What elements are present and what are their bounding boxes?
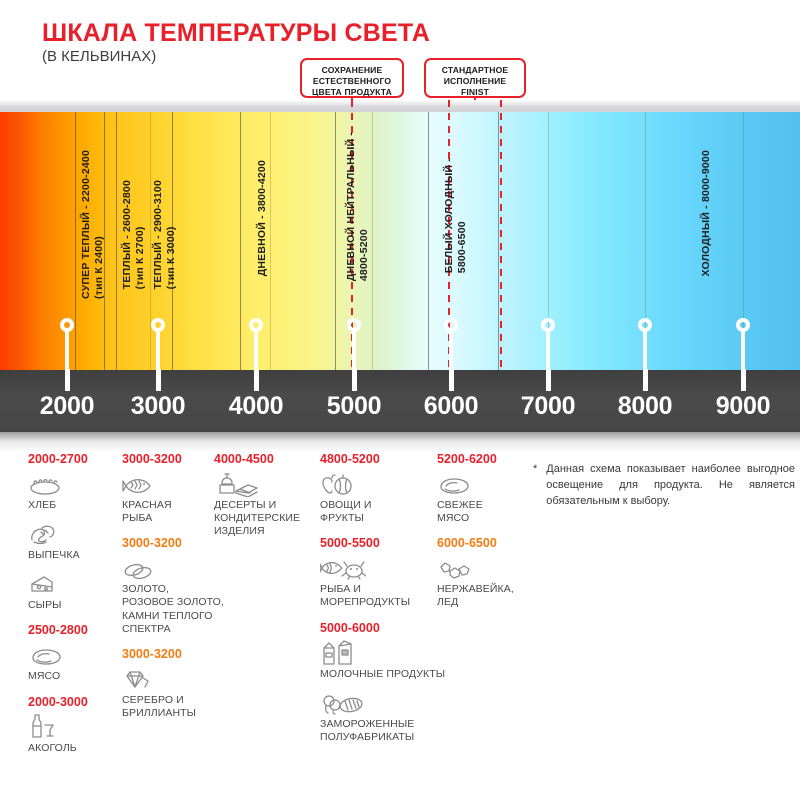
product-item: НЕРЖАВЕЙКА, ЛЕД — [437, 555, 514, 609]
infographic-root: ШКАЛА ТЕМПЕРАТУРЫ СВЕТА (В КЕЛЬВИНАХ) СО… — [0, 0, 800, 800]
scale-tick — [643, 369, 648, 391]
pin-stem — [352, 331, 356, 371]
product-item: ДЕСЕРТЫ И КОНДИТЕРСКИЕ ИЗДЕЛИЯ — [214, 471, 300, 538]
kelvin-range-label: 3000-3200 — [122, 647, 224, 661]
pin-stem — [741, 331, 745, 371]
pin-stem — [156, 331, 160, 371]
product-group: 5200-6200СВЕЖЕЕ МЯСО — [437, 452, 514, 525]
product-group: 5000-5500РЫБА И МОРЕПРОДУКТЫ — [320, 536, 445, 609]
scale-tick — [65, 369, 70, 391]
product-item-label: СВЕЖЕЕ МЯСО — [437, 499, 514, 525]
product-item-label: ЗАМОРОЖЕННЫЕ ПОЛУФАБРИКАТЫ — [320, 718, 445, 744]
scale-tick — [156, 369, 161, 391]
kelvin-range-label: 4800-5200 — [320, 452, 445, 466]
diamond-icon — [122, 666, 224, 692]
product-item-label: РЫБА И МОРЕПРОДУКТЫ — [320, 583, 445, 609]
product-item: СЫРЫ — [28, 571, 88, 612]
scale-tick-value: 6000 — [424, 392, 478, 421]
product-group: 2000-3000АКОГОЛЬ — [28, 695, 88, 755]
bar-divider — [498, 112, 499, 370]
bar-divider — [75, 112, 76, 370]
kelvin-range-label: 2500-2800 — [28, 623, 88, 637]
footnote-star: * — [533, 462, 537, 510]
bar-range-label: БЕЛЫЙ ХОЛОДНЫЙ - 5800-6500 — [443, 158, 469, 273]
product-item: МЯСО — [28, 642, 88, 683]
steak-icon — [28, 642, 88, 668]
kelvin-range-label: 3000-3200 — [122, 536, 224, 550]
product-group: 6000-6500НЕРЖАВЕЙКА, ЛЕД — [437, 536, 514, 609]
fruit-veg-icon — [320, 471, 445, 497]
scale-tick-value: 8000 — [618, 392, 672, 421]
scale-tick-value: 5000 — [327, 392, 381, 421]
bar-divider — [116, 112, 117, 370]
scale-tick — [254, 369, 259, 391]
product-item-label: АКОГОЛЬ — [28, 742, 88, 755]
bar-range-label: ДНЕВНОЙ - 3800-4200 — [256, 160, 269, 276]
product-column: 5200-6200СВЕЖЕЕ МЯСО6000-6500НЕРЖАВЕЙКА,… — [437, 452, 514, 621]
product-item-label: МОЛОЧНЫЕ ПРОДУКТЫ — [320, 668, 445, 681]
product-item-label: ВЫПЕЧКА — [28, 549, 88, 562]
product-item: КРАСНАЯ РЫБА — [122, 471, 224, 525]
fish-crab-icon — [320, 555, 445, 581]
product-group: 2500-2800МЯСО — [28, 623, 88, 683]
product-group: 3000-3200СЕРЕБРО И БРИЛЛИАНТЫ — [122, 647, 224, 720]
scale-tick-value: 7000 — [521, 392, 575, 421]
pin-stem — [449, 331, 453, 371]
pin-ring-icon — [249, 318, 263, 332]
scale-tick-value: 9000 — [716, 392, 770, 421]
kelvin-range-label: 5000-5500 — [320, 536, 445, 550]
croissant-icon — [28, 521, 88, 547]
top-gray-strip — [0, 100, 800, 112]
pin-ring-icon — [60, 318, 74, 332]
product-group: 4000-4500ДЕСЕРТЫ И КОНДИТЕРСКИЕ ИЗДЕЛИЯ — [214, 452, 300, 538]
ice-cubes-icon — [437, 555, 514, 581]
product-group: 3000-3200КРАСНАЯ РЫБА — [122, 452, 224, 525]
product-group: 3000-3200ЗОЛОТО, РОЗОВОЕ ЗОЛОТО, КАМНИ Т… — [122, 536, 224, 636]
product-item: АКОГОЛЬ — [28, 714, 88, 755]
scale-tick — [546, 369, 551, 391]
product-item: ЗАМОРОЖЕННЫЕ ПОЛУФАБРИКАТЫ — [320, 690, 445, 744]
kelvin-range-label: 6000-6500 — [437, 536, 514, 550]
pin-ring-icon — [541, 318, 555, 332]
footnote-text: Данная схема показывает наиболее выгодно… — [546, 462, 795, 510]
kelvin-range-label: 5000-6000 — [320, 621, 445, 635]
product-column: 3000-3200КРАСНАЯ РЫБА3000-3200ЗОЛОТО, РО… — [122, 452, 224, 731]
frozen-food-icon — [320, 690, 445, 716]
scale-tick-value: 3000 — [131, 392, 185, 421]
pin-ring-icon — [347, 318, 361, 332]
cheese-icon — [28, 571, 88, 597]
scale-tick-value: 4000 — [229, 392, 283, 421]
product-item-label: СЕРЕБРО И БРИЛЛИАНТЫ — [122, 694, 224, 720]
dashed-marker-6500 — [500, 100, 502, 370]
footnote: * Данная схема показывает наиболее выгод… — [533, 462, 795, 510]
kelvin-range-label: 3000-3200 — [122, 452, 224, 466]
product-item: ЗОЛОТО, РОЗОВОЕ ЗОЛОТО, КАМНИ ТЕПЛОГО СП… — [122, 555, 224, 636]
kelvin-range-label: 2000-3000 — [28, 695, 88, 709]
product-group: 5000-6000МОЛОЧНЫЕ ПРОДУКТЫЗАМОРОЖЕННЫЕ П… — [320, 621, 445, 744]
bar-range-label: ДНЕВНОЙ НЕЙТРАЛЬНЫЙ - 4800-5200 — [345, 132, 371, 281]
bar-range-label: СУПЕР ТЕПЛЫЙ - 2200-2400 (тип К 2400) — [80, 150, 106, 299]
bread-icon — [28, 471, 88, 497]
product-item-label: ДЕСЕРТЫ И КОНДИТЕРСКИЕ ИЗДЕЛИЯ — [214, 499, 300, 538]
product-item-label: ХЛЕБ — [28, 499, 88, 512]
product-item: ОВОЩИ И ФРУКТЫ — [320, 471, 445, 525]
product-column: 4000-4500ДЕСЕРТЫ И КОНДИТЕРСКИЕ ИЗДЕЛИЯ — [214, 452, 300, 549]
bar-divider — [240, 112, 241, 370]
pin-ring-icon — [638, 318, 652, 332]
pin-stem — [643, 331, 647, 371]
product-item-label: ЗОЛОТО, РОЗОВОЕ ЗОЛОТО, КАМНИ ТЕПЛОГО СП… — [122, 583, 224, 636]
kelvin-scale-strip: 20003000400050006000700080009000 — [0, 370, 800, 432]
scale-tick — [352, 369, 357, 391]
milk-carton-icon — [320, 640, 445, 666]
product-item: ВЫПЕЧКА — [28, 521, 88, 562]
bar-divider — [372, 112, 373, 370]
page-subtitle: (В КЕЛЬВИНАХ) — [42, 48, 156, 65]
kelvin-range-label: 4000-4500 — [214, 452, 300, 466]
rings-icon — [122, 555, 224, 581]
pin-stem — [65, 331, 69, 371]
product-item-label: ОВОЩИ И ФРУКТЫ — [320, 499, 445, 525]
callout-natural-color: СОХРАНЕНИЕ ЕСТЕСТВЕННОГО ЦВЕТА ПРОДУКТА — [300, 58, 404, 98]
fresh-meat-icon — [437, 471, 514, 497]
scale-drop-shadow — [0, 432, 800, 452]
product-item: ХЛЕБ — [28, 471, 88, 512]
scale-tick — [741, 369, 746, 391]
page-title: ШКАЛА ТЕМПЕРАТУРЫ СВЕТА — [42, 19, 430, 48]
product-item: МОЛОЧНЫЕ ПРОДУКТЫ — [320, 640, 445, 681]
product-group: 2000-2700ХЛЕБВЫПЕЧКАСЫРЫ — [28, 452, 88, 612]
bar-range-label: ТЕПЛЫЙ - 2900-3100 (тип К 3000) — [152, 180, 178, 289]
product-item: РЫБА И МОРЕПРОДУКТЫ — [320, 555, 445, 609]
bar-divider — [428, 112, 429, 370]
scale-tick — [449, 369, 454, 391]
scale-tick-value: 2000 — [40, 392, 94, 421]
kelvin-range-label: 2000-2700 — [28, 452, 88, 466]
product-column: 2000-2700ХЛЕБВЫПЕЧКАСЫРЫ2500-2800МЯСО200… — [28, 452, 88, 766]
pin-ring-icon — [736, 318, 750, 332]
bar-divider — [270, 112, 271, 370]
pin-ring-icon — [151, 318, 165, 332]
kelvin-range-label: 5200-6200 — [437, 452, 514, 466]
product-item-label: СЫРЫ — [28, 599, 88, 612]
product-item-label: НЕРЖАВЕЙКА, ЛЕД — [437, 583, 514, 609]
bar-range-label: ХОЛОДНЫЙ - 8000-9000 — [700, 150, 713, 276]
fish-icon — [122, 471, 224, 497]
cake-slice-icon — [214, 471, 300, 497]
product-item: СЕРЕБРО И БРИЛЛИАНТЫ — [122, 666, 224, 720]
bar-divider — [335, 112, 336, 370]
pin-stem — [254, 331, 258, 371]
product-item-label: МЯСО — [28, 670, 88, 683]
product-group: 4800-5200ОВОЩИ И ФРУКТЫ — [320, 452, 445, 525]
pin-ring-icon — [444, 318, 458, 332]
pin-stem — [546, 331, 550, 371]
bar-range-label: ТЕПЛЫЙ - 2600-2800 (тип К 2700) — [121, 180, 147, 289]
product-item-label: КРАСНАЯ РЫБА — [122, 499, 224, 525]
bottle-glass-icon — [28, 714, 88, 740]
callout-standard-finist: СТАНДАРТНОЕ ИСПОЛНЕНИЕ FINIST — [424, 58, 526, 98]
product-column: 4800-5200ОВОЩИ И ФРУКТЫ5000-5500РЫБА И М… — [320, 452, 445, 755]
product-item: СВЕЖЕЕ МЯСО — [437, 471, 514, 525]
